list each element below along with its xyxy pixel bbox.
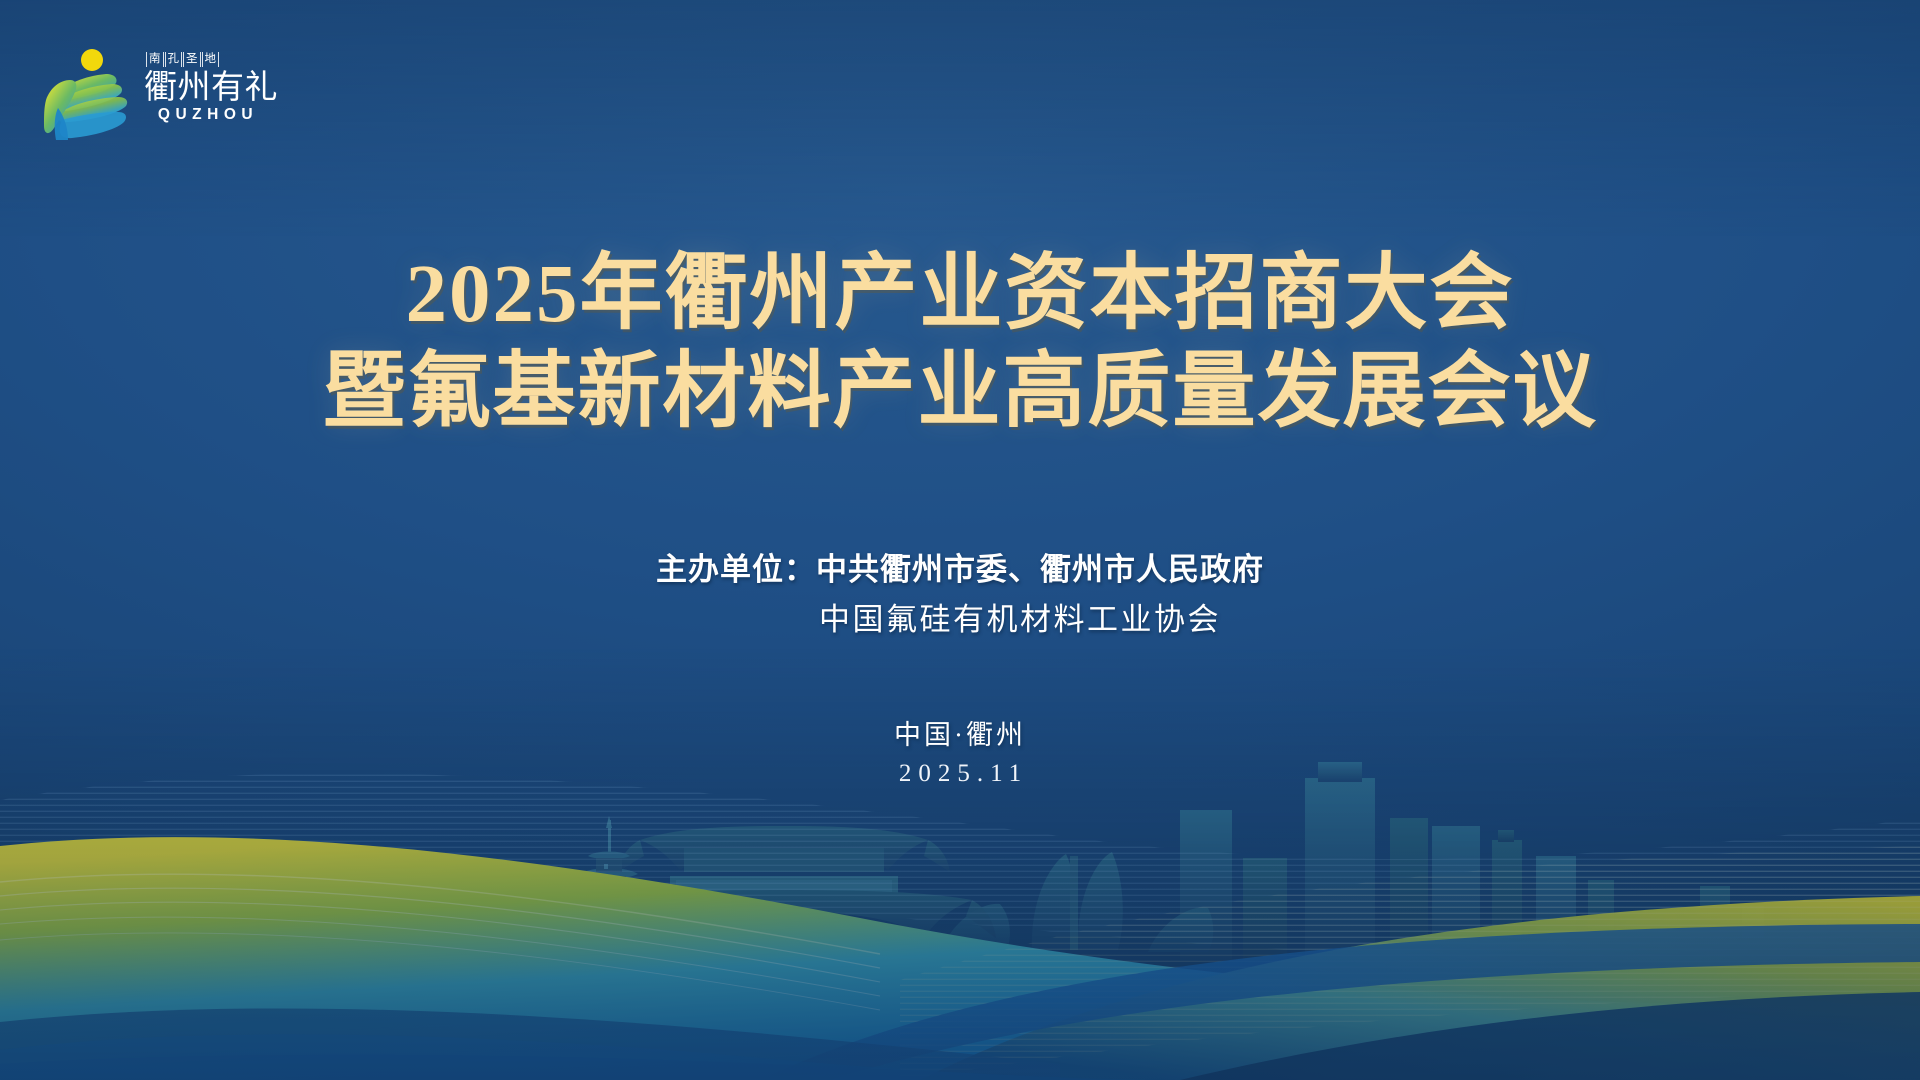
quzhou-youli-logo: 南 孔 圣 地 衢州有礼 QUZHOU xyxy=(36,38,268,146)
logo-tagline-char: 南 xyxy=(146,52,164,67)
logo-tagline-char: 地 xyxy=(202,52,220,67)
title-line-2: 暨氟基新材料产业高质量发展会议 xyxy=(0,342,1920,440)
presentation-slide: 南 孔 圣 地 衢州有礼 QUZHOU 2025年衢州产业资本招商大会 暨氟基新… xyxy=(0,0,1920,1080)
place-date-block: 中国·衢州 2025.11 xyxy=(0,715,1920,793)
organizer-line-2: 中国氟硅有机材料工业协会 xyxy=(0,595,1920,645)
leaf-hand-icon xyxy=(36,42,140,142)
title-line-1: 2025年衢州产业资本招商大会 xyxy=(0,244,1920,342)
slide-vignette xyxy=(0,0,1920,1080)
logo-tagline-char: 圣 xyxy=(183,52,201,67)
slide-title: 2025年衢州产业资本招商大会 暨氟基新材料产业高质量发展会议 xyxy=(0,244,1920,440)
logo-tagline-char: 孔 xyxy=(165,52,183,67)
organizers-block: 主办单位：中共衢州市委、衢州市人民政府 中国氟硅有机材料工业协会 xyxy=(0,545,1920,645)
logo-tagline: 南 孔 圣 地 xyxy=(144,52,268,67)
event-place: 中国·衢州 xyxy=(0,715,1920,755)
logo-main-text: 衢州有礼 xyxy=(144,70,268,106)
sun-icon xyxy=(81,49,103,71)
organizer-line-1: 主办单位：中共衢州市委、衢州市人民政府 xyxy=(0,545,1920,595)
logo-text-block: 南 孔 圣 地 衢州有礼 QUZHOU xyxy=(144,52,268,124)
logo-pinyin: QUZHOU xyxy=(144,106,268,124)
event-date: 2025.11 xyxy=(0,755,1920,793)
